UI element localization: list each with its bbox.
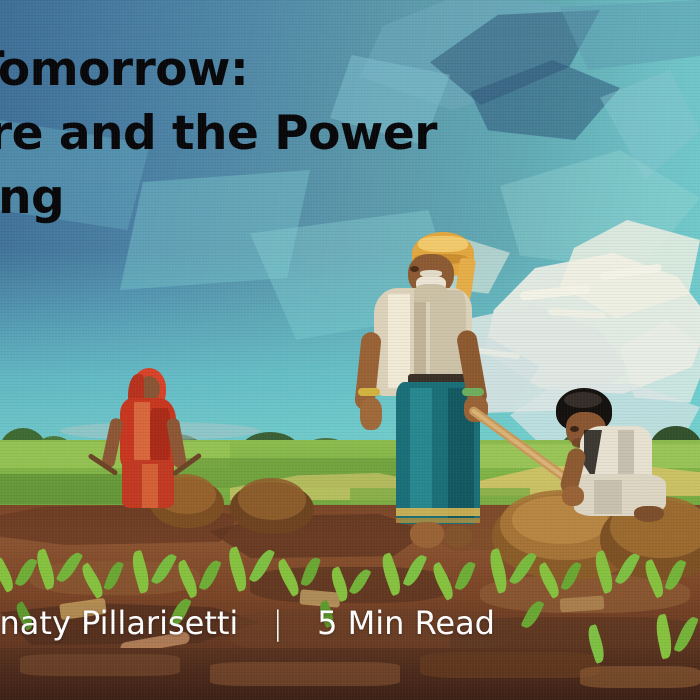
figure-woman-in-red-saree (104, 368, 196, 510)
saree-highlight (134, 402, 150, 462)
hair-highlight (564, 392, 602, 408)
green-wristband (462, 388, 484, 396)
figure-crouching-worker (538, 388, 686, 520)
skirt-highlight (142, 464, 158, 508)
moustache (420, 270, 442, 277)
saree-shadow (150, 408, 170, 462)
eye (410, 266, 419, 272)
figure-elderly-farmer (352, 232, 542, 562)
byline-read-time: 5 Min Read (317, 604, 495, 642)
foot (634, 506, 664, 522)
foot (444, 526, 472, 548)
shirt-collar (414, 284, 448, 302)
turban-highlight (418, 236, 468, 252)
soil-clod (580, 666, 700, 688)
byline-separator: | (272, 604, 283, 642)
soil-clod (20, 654, 180, 676)
article-hero-banner: r Tomorrow: ture and the Power ming Pran… (0, 0, 700, 700)
shirt-placket-shadow (414, 294, 426, 380)
hand (562, 486, 584, 506)
eye (570, 426, 579, 432)
lungi-gold-border (396, 518, 480, 523)
lungi-highlight (410, 388, 432, 516)
shirt-highlight (388, 294, 410, 388)
byline: Pranaty Pillarisetti | 5 Min Read (0, 604, 700, 642)
foot (410, 522, 444, 548)
title-line-1: r Tomorrow: (0, 47, 694, 92)
article-title: r Tomorrow: ture and the Power ming (0, 47, 694, 220)
byline-author: Pranaty Pillarisetti (0, 604, 238, 642)
lungi-gold-border (396, 508, 480, 516)
title-line-2: ture and the Power (0, 111, 694, 156)
title-line-3: ming (0, 175, 694, 220)
soil-clod (210, 662, 400, 686)
bangle (358, 388, 380, 396)
soil-clod (420, 652, 600, 678)
left-hand (360, 398, 382, 430)
dhoti-shadow (594, 480, 622, 514)
